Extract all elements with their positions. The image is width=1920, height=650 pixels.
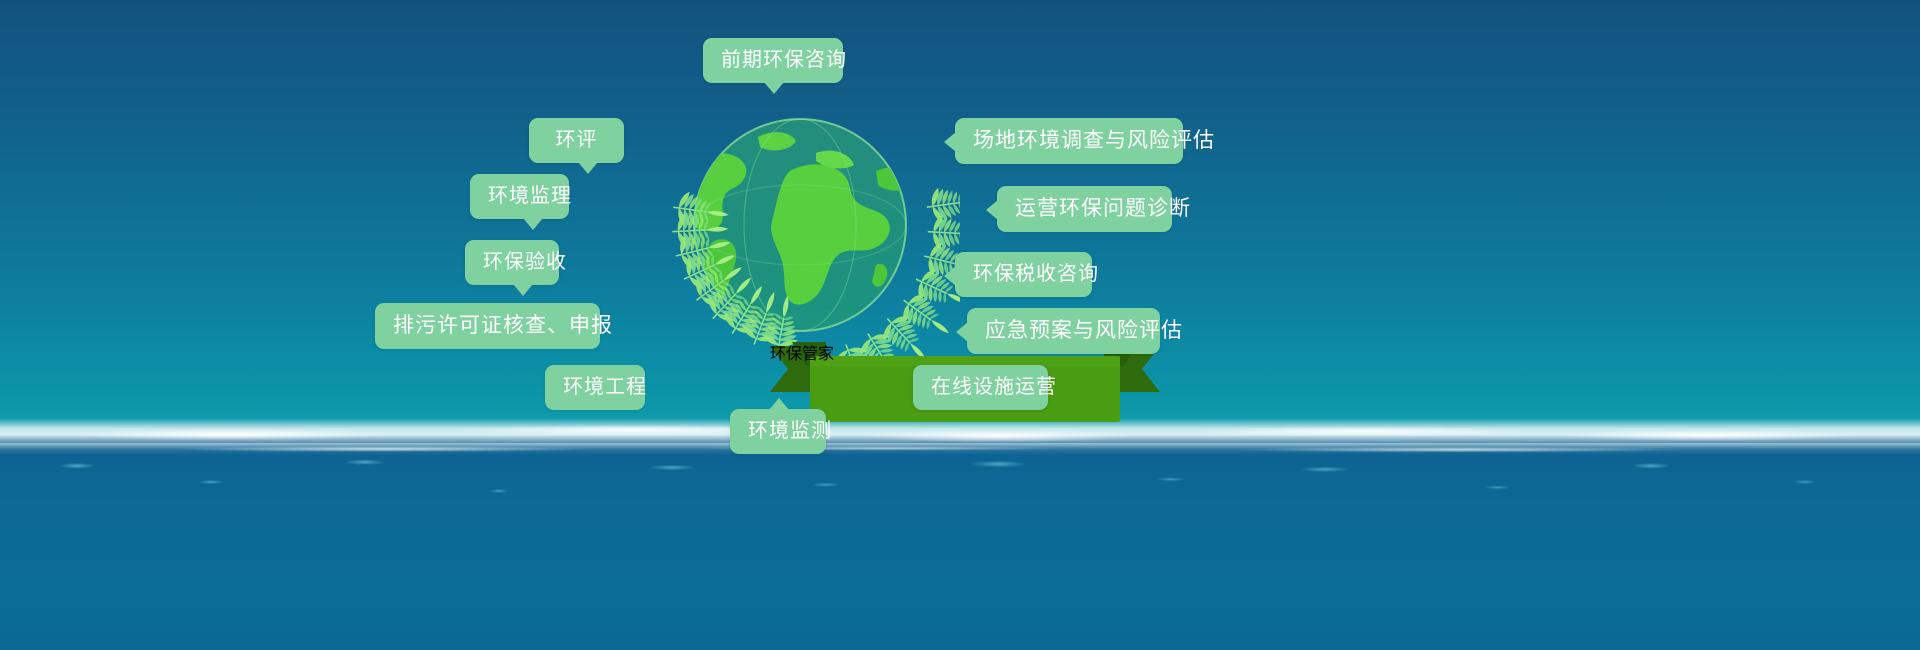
service-label-env-engineering[interactable]: 环境工程	[545, 365, 645, 410]
service-label-text: 环保税收咨询	[973, 263, 1099, 285]
speech-tail-icon	[769, 398, 789, 410]
service-label-text: 排污许可证核查、申报	[393, 314, 613, 337]
service-label-env-monitoring[interactable]: 环境监测	[730, 409, 826, 454]
service-label-env-tax-consulting[interactable]: 环保税收咨询	[955, 252, 1092, 297]
service-label-text: 环境工程	[563, 376, 647, 398]
service-label-emergency-plan-risk[interactable]: 应急预案与风险评估	[967, 308, 1160, 354]
speech-tail-icon	[944, 132, 956, 152]
service-label-text: 在线设施运营	[931, 376, 1057, 398]
service-label-online-facility-ops[interactable]: 在线设施运营	[913, 365, 1048, 410]
speech-tail-icon	[944, 266, 956, 286]
speech-tail-icon	[523, 218, 543, 230]
service-label-text: 环境监理	[488, 185, 572, 207]
speech-tail-icon	[986, 200, 998, 220]
service-label-text: 运营环保问题诊断	[1015, 197, 1191, 220]
service-label-operation-diagnosis[interactable]: 运营环保问题诊断	[997, 186, 1172, 232]
service-label-text: 应急预案与风险评估	[985, 319, 1183, 342]
hero-banner: 环保管家 前期环保咨询环评环境监理环保验收排污许可证核查、申报环境工程环境监测场…	[0, 0, 1920, 650]
speech-tail-icon	[956, 322, 968, 342]
speech-tail-icon	[513, 284, 533, 296]
speech-tail-icon	[578, 162, 598, 174]
service-label-pre-consulting[interactable]: 前期环保咨询	[703, 38, 843, 83]
service-label-eia[interactable]: 环评	[529, 118, 624, 163]
service-label-discharge-permit[interactable]: 排污许可证核查、申报	[375, 303, 600, 349]
service-label-text: 场地环境调查与风险评估	[973, 129, 1215, 152]
water-bubbles	[0, 455, 1920, 545]
speech-tail-icon	[764, 82, 784, 94]
service-label-site-survey-risk[interactable]: 场地环境调查与风险评估	[955, 118, 1183, 164]
service-label-env-acceptance[interactable]: 环保验收	[465, 240, 559, 285]
service-label-text: 环保验收	[483, 251, 567, 273]
service-label-text: 前期环保咨询	[721, 49, 847, 71]
service-label-env-supervision[interactable]: 环境监理	[470, 174, 569, 219]
service-label-text: 环境监测	[748, 420, 832, 442]
service-label-text: 环评	[556, 129, 598, 151]
